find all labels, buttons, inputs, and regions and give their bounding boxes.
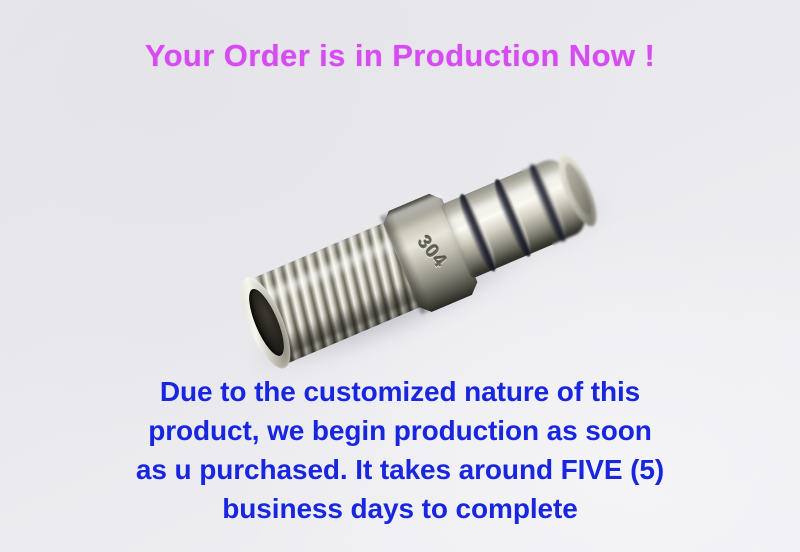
notice-line: Due to the customized nature of this	[0, 372, 800, 411]
hose-barb-fitting-graphic: 304	[238, 133, 608, 379]
notice-line: as u purchased. It takes around FIVE (5)	[0, 450, 800, 489]
notice-banner: Your Order is in Production Now ! 304	[0, 0, 800, 552]
page-title: Your Order is in Production Now !	[0, 38, 800, 74]
production-notice-text: Due to the customized nature of this pro…	[0, 372, 800, 528]
notice-line: business days to complete	[0, 489, 800, 528]
product-image: 304	[225, 145, 605, 370]
notice-line: product, we begin production as soon	[0, 411, 800, 450]
